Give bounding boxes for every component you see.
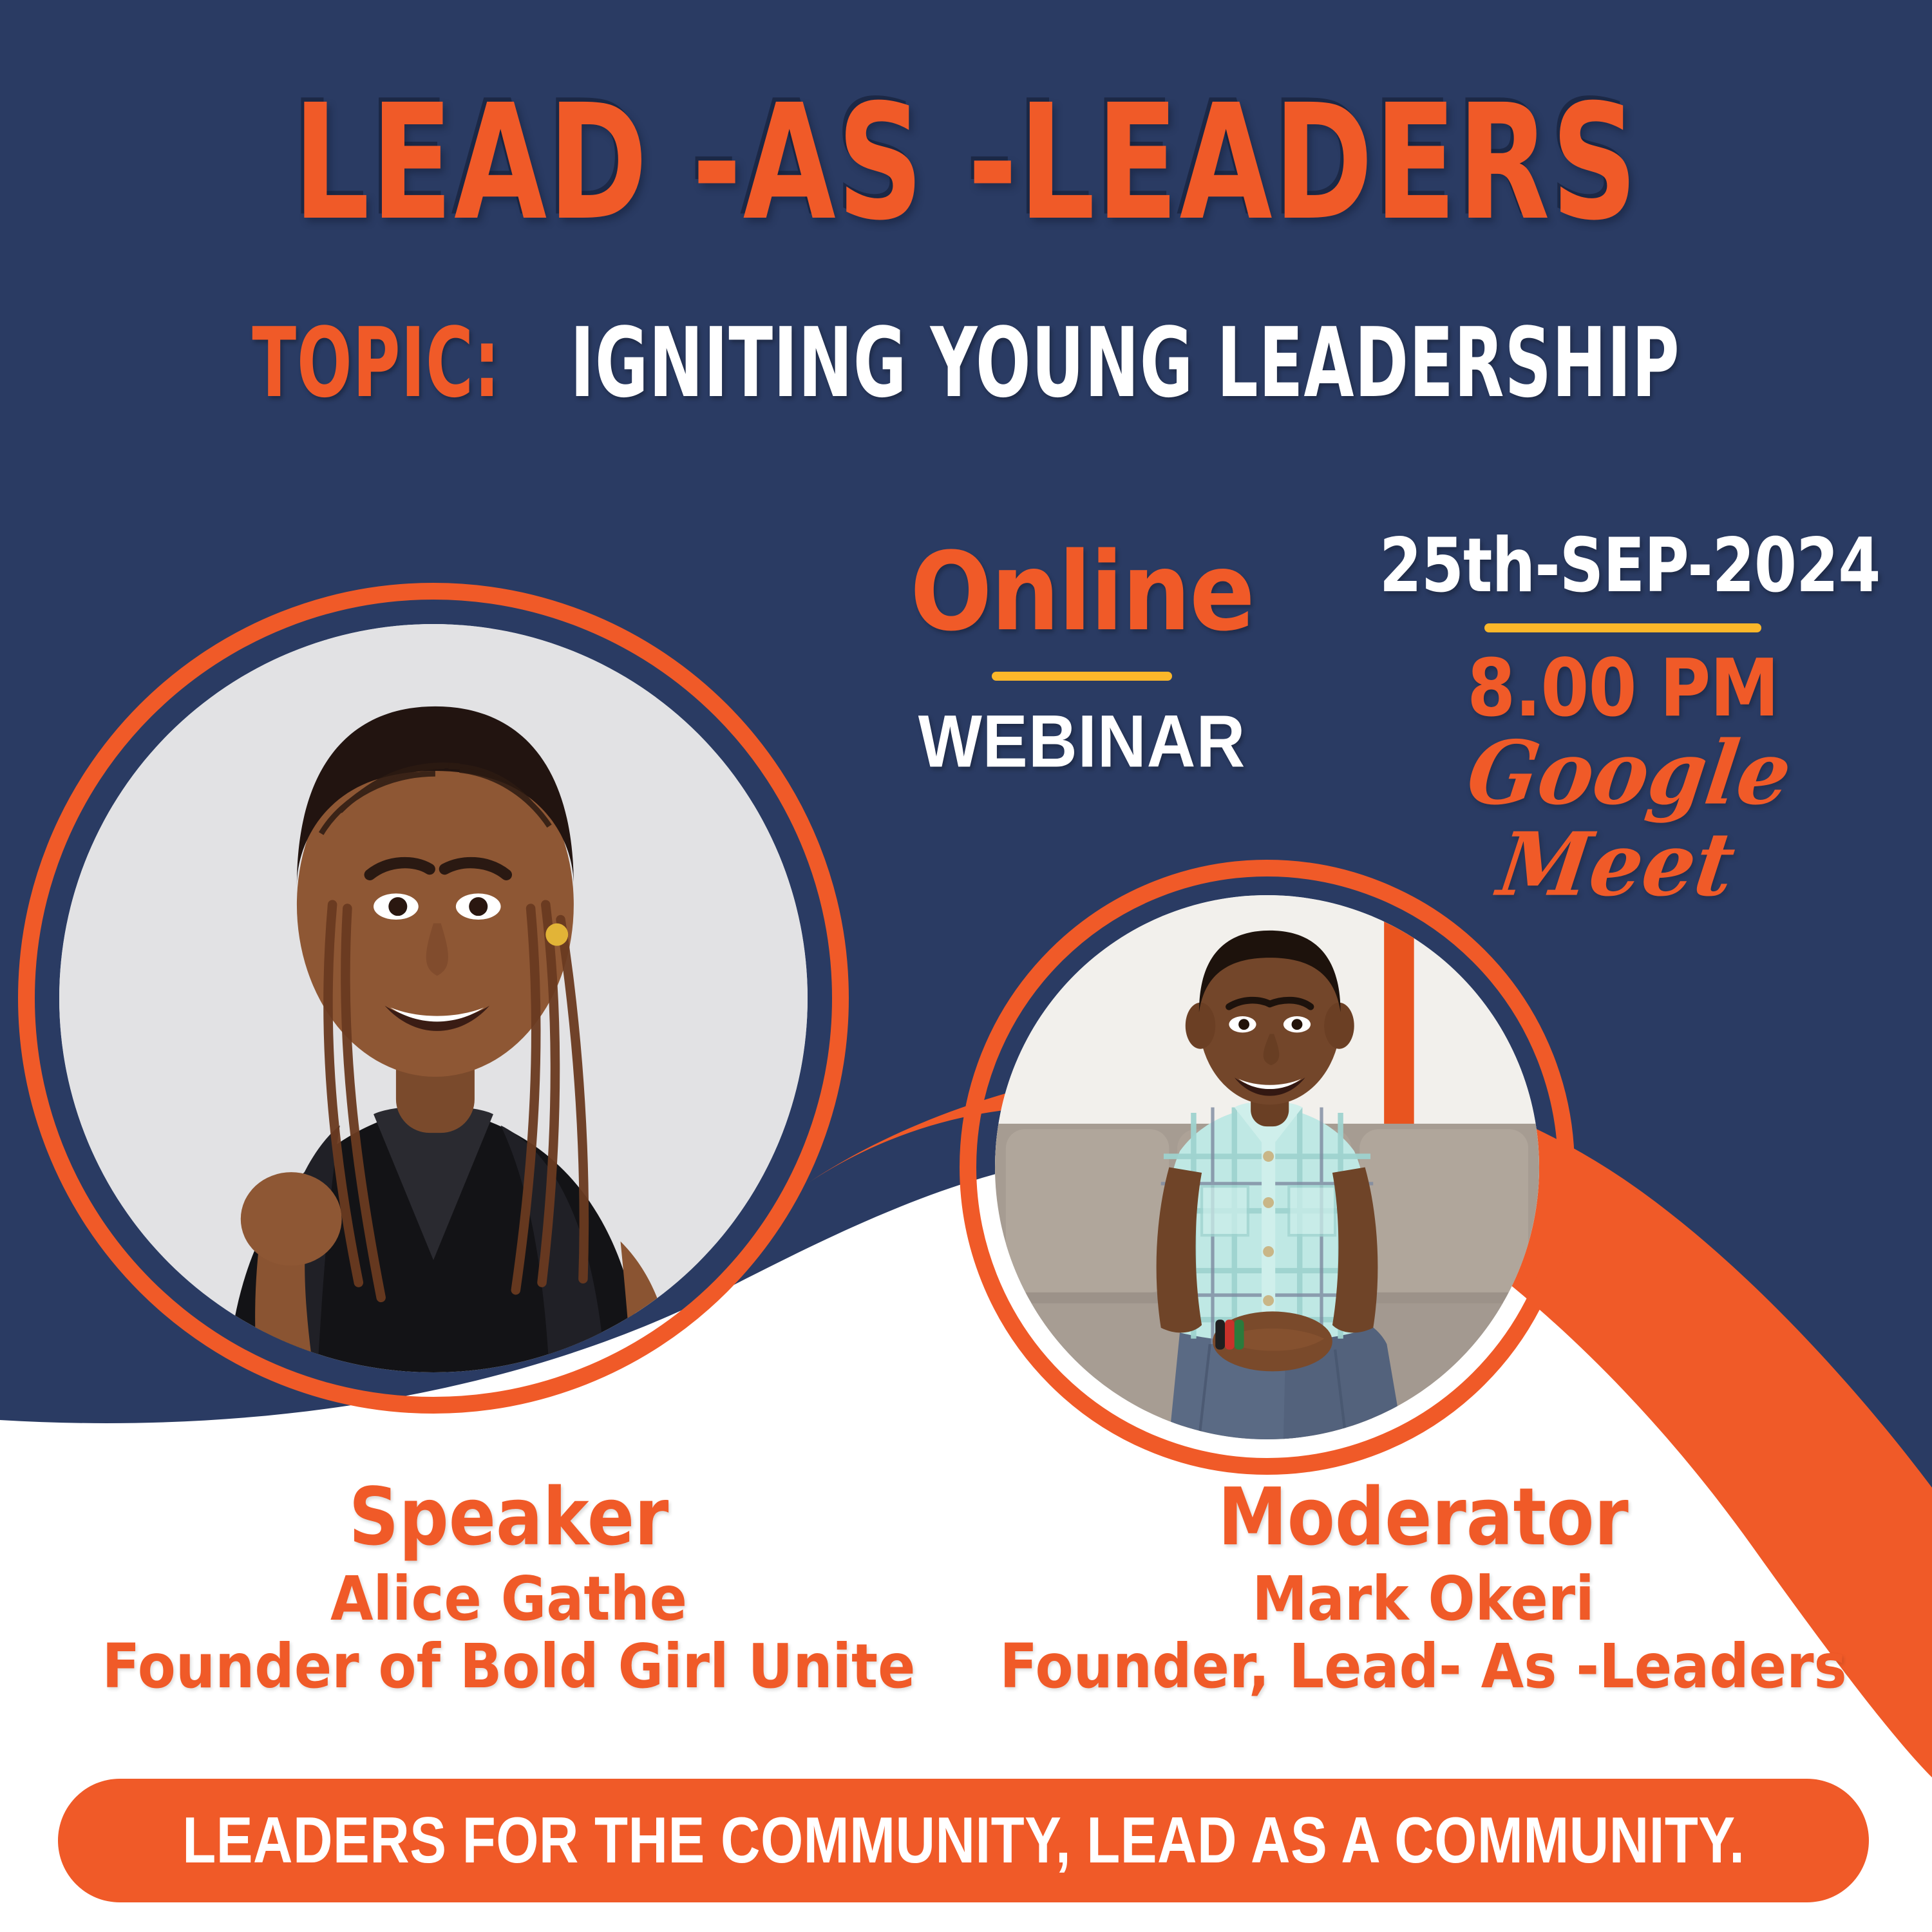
moderator-org: Founder, Lead- As -Leaders — [979, 1633, 1868, 1701]
moderator-role-label: Moderator — [979, 1476, 1868, 1559]
speaker-photo-ring — [18, 583, 849, 1414]
webinar-poster: LEAD -AS -LEADERS TOPIC: IGNITING YOUNG … — [0, 0, 1932, 1932]
event-time: 8.00 PM — [1372, 649, 1874, 728]
event-platform: Google Meet — [1359, 728, 1887, 911]
speaker-role-label: Speaker — [64, 1476, 953, 1559]
topic-line: TOPIC: IGNITING YOUNG LEADERSHIP — [39, 316, 1893, 412]
moderator-caption: Moderator Mark Okeri Founder, Lead- As -… — [979, 1481, 1868, 1698]
schedule-block: 25th-SEP-2024 8.00 PM Google Meet — [1372, 535, 1874, 906]
event-date: 25th-SEP-2024 — [1379, 529, 1867, 603]
topic-label: TOPIC: — [252, 307, 500, 419]
speaker-org: Founder of Bold Girl Unite — [64, 1633, 953, 1701]
speaker-caption: Speaker Alice Gathe Founder of Bold Girl… — [64, 1481, 953, 1698]
gold-divider-date — [1484, 623, 1761, 632]
page-title: LEAD -AS -LEADERS — [19, 84, 1913, 243]
speaker-name: Alice Gathe — [64, 1566, 953, 1634]
topic-text: IGNITING YOUNG LEADERSHIP — [570, 307, 1680, 419]
format-mode-label: Online — [882, 538, 1282, 647]
moderator-photo-ring — [960, 860, 1575, 1475]
tagline-text: LEADERS FOR THE COMMUNITY, LEAD AS A COM… — [182, 1808, 1745, 1873]
moderator-name: Mark Okeri — [979, 1566, 1868, 1634]
format-kind-label: WEBINAR — [882, 705, 1282, 779]
gold-divider-online — [992, 672, 1172, 681]
format-block: Online WEBINAR — [882, 544, 1282, 775]
tagline-banner: LEADERS FOR THE COMMUNITY, LEAD AS A COM… — [58, 1779, 1869, 1902]
